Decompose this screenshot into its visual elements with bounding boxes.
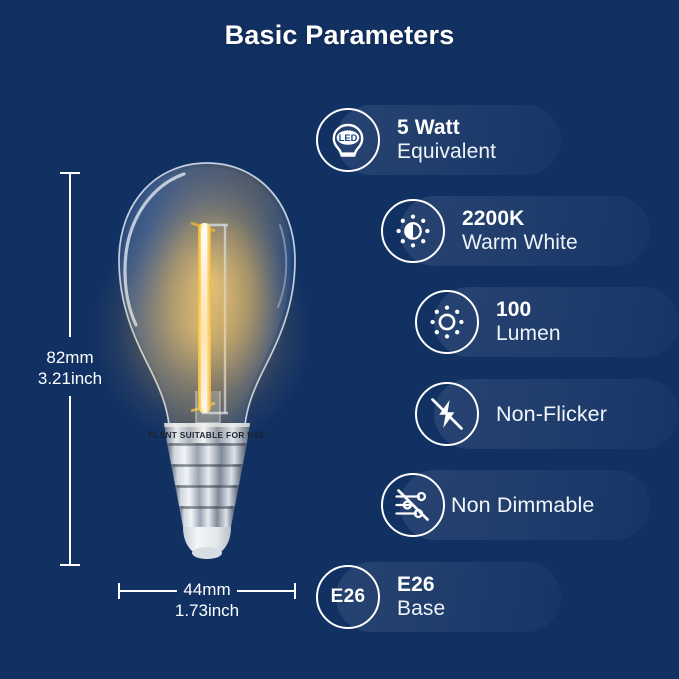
color-temperature-icon [381, 199, 445, 263]
param-text-watt: 5 Watt Equivalent [397, 116, 496, 165]
param-text-lumen: 100 Lumen [496, 298, 561, 347]
non-dimmable-slider-icon [381, 473, 445, 537]
led-bulb-icon: LED [316, 108, 380, 172]
brightness-sun-icon [415, 290, 479, 354]
param-caption-kelvin: Warm White [462, 231, 578, 255]
infographic-canvas: Basic Parameters [0, 0, 679, 679]
param-value-dimmable: Non Dimmable [451, 493, 594, 518]
param-text-base: E26 Base [397, 573, 445, 622]
param-value-flicker: Non-Flicker [496, 402, 607, 427]
no-flicker-icon [415, 382, 479, 446]
led-icon-text: LED [339, 132, 358, 143]
e26-base-icon: E26 [316, 565, 380, 629]
e26-icon-text: E26 [331, 586, 366, 608]
param-text-dimmable: Non Dimmable [451, 493, 594, 518]
param-value-watt: 5 Watt [397, 116, 496, 140]
param-row-base[interactable]: E26 E26 Base [316, 565, 445, 629]
param-row-dimmable[interactable]: Non Dimmable [381, 473, 594, 537]
param-row-lumen[interactable]: 100 Lumen [415, 290, 561, 354]
param-text-kelvin: 2200K Warm White [462, 207, 578, 256]
param-value-lumen: 100 [496, 298, 561, 322]
param-row-watt[interactable]: LED 5 Watt Equivalent [316, 108, 496, 172]
param-row-kelvin[interactable]: 2200K Warm White [381, 199, 578, 263]
param-caption-base: Base [397, 597, 445, 621]
param-caption-lumen: Lumen [496, 322, 561, 346]
param-value-kelvin: 2200K [462, 207, 578, 231]
param-caption-watt: Equivalent [397, 140, 496, 164]
param-text-flicker: Non-Flicker [496, 402, 607, 427]
param-value-base: E26 [397, 573, 445, 597]
param-row-flicker[interactable]: Non-Flicker [415, 382, 607, 446]
